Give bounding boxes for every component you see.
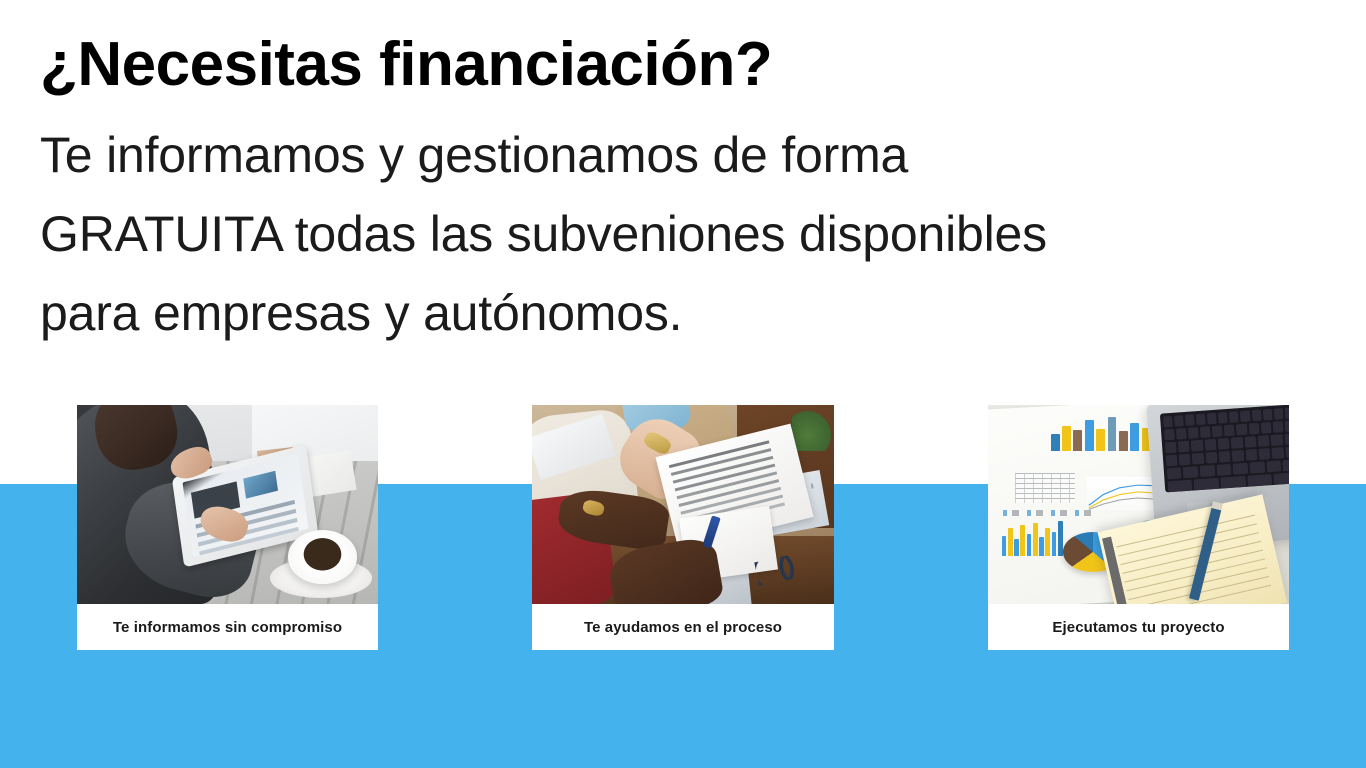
photo-data-table xyxy=(1015,473,1075,503)
photo-document-review xyxy=(532,405,834,604)
headline-block: ¿Necesitas financiación? Te informamos y… xyxy=(40,28,1240,353)
page-subtitle: Te informamos y gestionamos de forma GRA… xyxy=(40,116,1150,353)
card-caption-text-3: Ejecutamos tu proyecto xyxy=(1052,619,1224,636)
slide-canvas: ¿Necesitas financiación? Te informamos y… xyxy=(0,0,1366,768)
page-title: ¿Necesitas financiación? xyxy=(40,28,1240,102)
card-image-1 xyxy=(77,405,378,604)
card-caption-2: Te ayudamos en el proceso xyxy=(532,604,834,650)
card-caption-text-1: Te informamos sin compromiso xyxy=(113,619,342,636)
card-caption-text-2: Te ayudamos en el proceso xyxy=(584,619,782,636)
feature-card-2[interactable]: Te ayudamos en el proceso xyxy=(532,405,834,650)
card-image-2 xyxy=(532,405,834,604)
photo-charts-notebook xyxy=(988,405,1289,604)
photo-tablet-coffee xyxy=(77,405,378,604)
card-caption-1: Te informamos sin compromiso xyxy=(77,604,378,650)
feature-card-1[interactable]: Te informamos sin compromiso xyxy=(77,405,378,650)
card-image-3 xyxy=(988,405,1289,604)
photo-coffee-cup xyxy=(288,530,357,584)
card-caption-3: Ejecutamos tu proyecto xyxy=(988,604,1289,650)
photo-keyboard xyxy=(1159,405,1289,493)
photo-plant xyxy=(792,411,831,451)
feature-card-3[interactable]: Ejecutamos tu proyecto xyxy=(988,405,1289,650)
